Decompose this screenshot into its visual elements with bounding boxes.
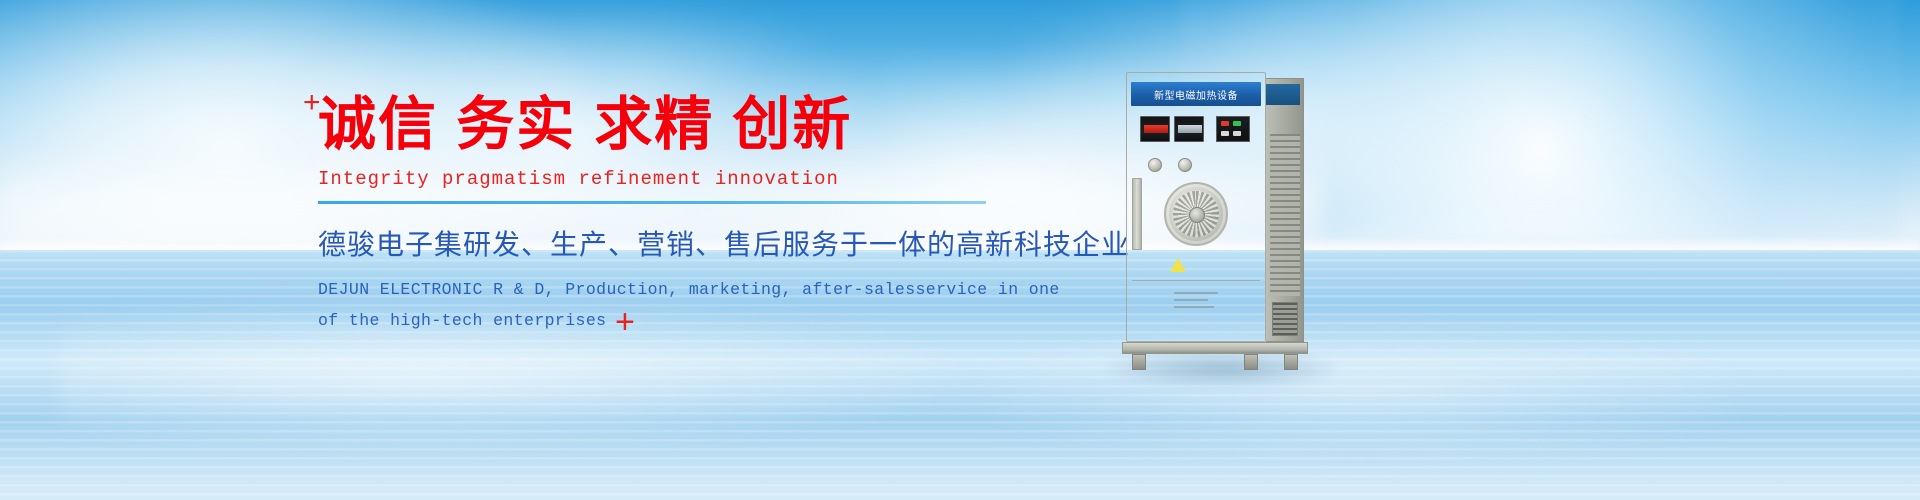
product-machine-image: 新型电磁加热设备 [1126, 72, 1306, 360]
meter-segment [1178, 125, 1202, 133]
keypad-light [1233, 131, 1241, 136]
machine-vent-slots [1270, 134, 1300, 296]
meter-segment [1144, 125, 1168, 133]
machine-foot [1284, 354, 1298, 370]
machine-label-text: 新型电磁加热设备 [1154, 87, 1238, 102]
machine-spec-text [1174, 292, 1218, 294]
hero-banner: + + 诚信 务实 求精 创新 Integrity pragmatism ref… [0, 0, 1920, 500]
machine-fan-vent [1164, 182, 1228, 246]
keypad-light [1221, 121, 1229, 126]
machine-display-meter [1174, 116, 1204, 142]
machine-grille [1272, 302, 1298, 336]
headline-chinese: 诚信 务实 求精 创新 [318, 96, 1018, 154]
machine-spec-text [1174, 299, 1208, 301]
subtitle-chinese: 德骏电子集研发、生产、营销、售后服务于一体的高新科技企业 [318, 223, 1018, 263]
keypad-light [1221, 131, 1229, 136]
machine-handle-strip [1132, 178, 1142, 250]
banner-text-block: 诚信 务实 求精 创新 Integrity pragmatism refinem… [318, 96, 1018, 336]
machine-knob [1178, 158, 1192, 172]
machine-foot [1132, 354, 1146, 370]
machine-label-side [1266, 84, 1300, 105]
machine-knob [1148, 158, 1162, 172]
keypad-light [1233, 121, 1241, 126]
subtitle-english-line2: of the high-tech enterprises [318, 306, 1018, 337]
machine-label-badge: 新型电磁加热设备 [1131, 82, 1261, 106]
headline-english: Integrity pragmatism refinement innovati… [318, 168, 1018, 190]
machine-display-meter [1140, 116, 1170, 142]
machine-foot [1244, 354, 1258, 370]
machine-control-panel [1140, 116, 1252, 150]
divider-rule [318, 201, 986, 204]
sea-reflection [980, 330, 1740, 460]
subtitle-english-line1: DEJUN ELECTRONIC R & D, Production, mark… [318, 275, 1018, 306]
machine-spec-text [1174, 306, 1214, 308]
machine-base [1122, 342, 1308, 354]
machine-keypad [1216, 116, 1250, 142]
machine-door-seam [1132, 280, 1260, 281]
